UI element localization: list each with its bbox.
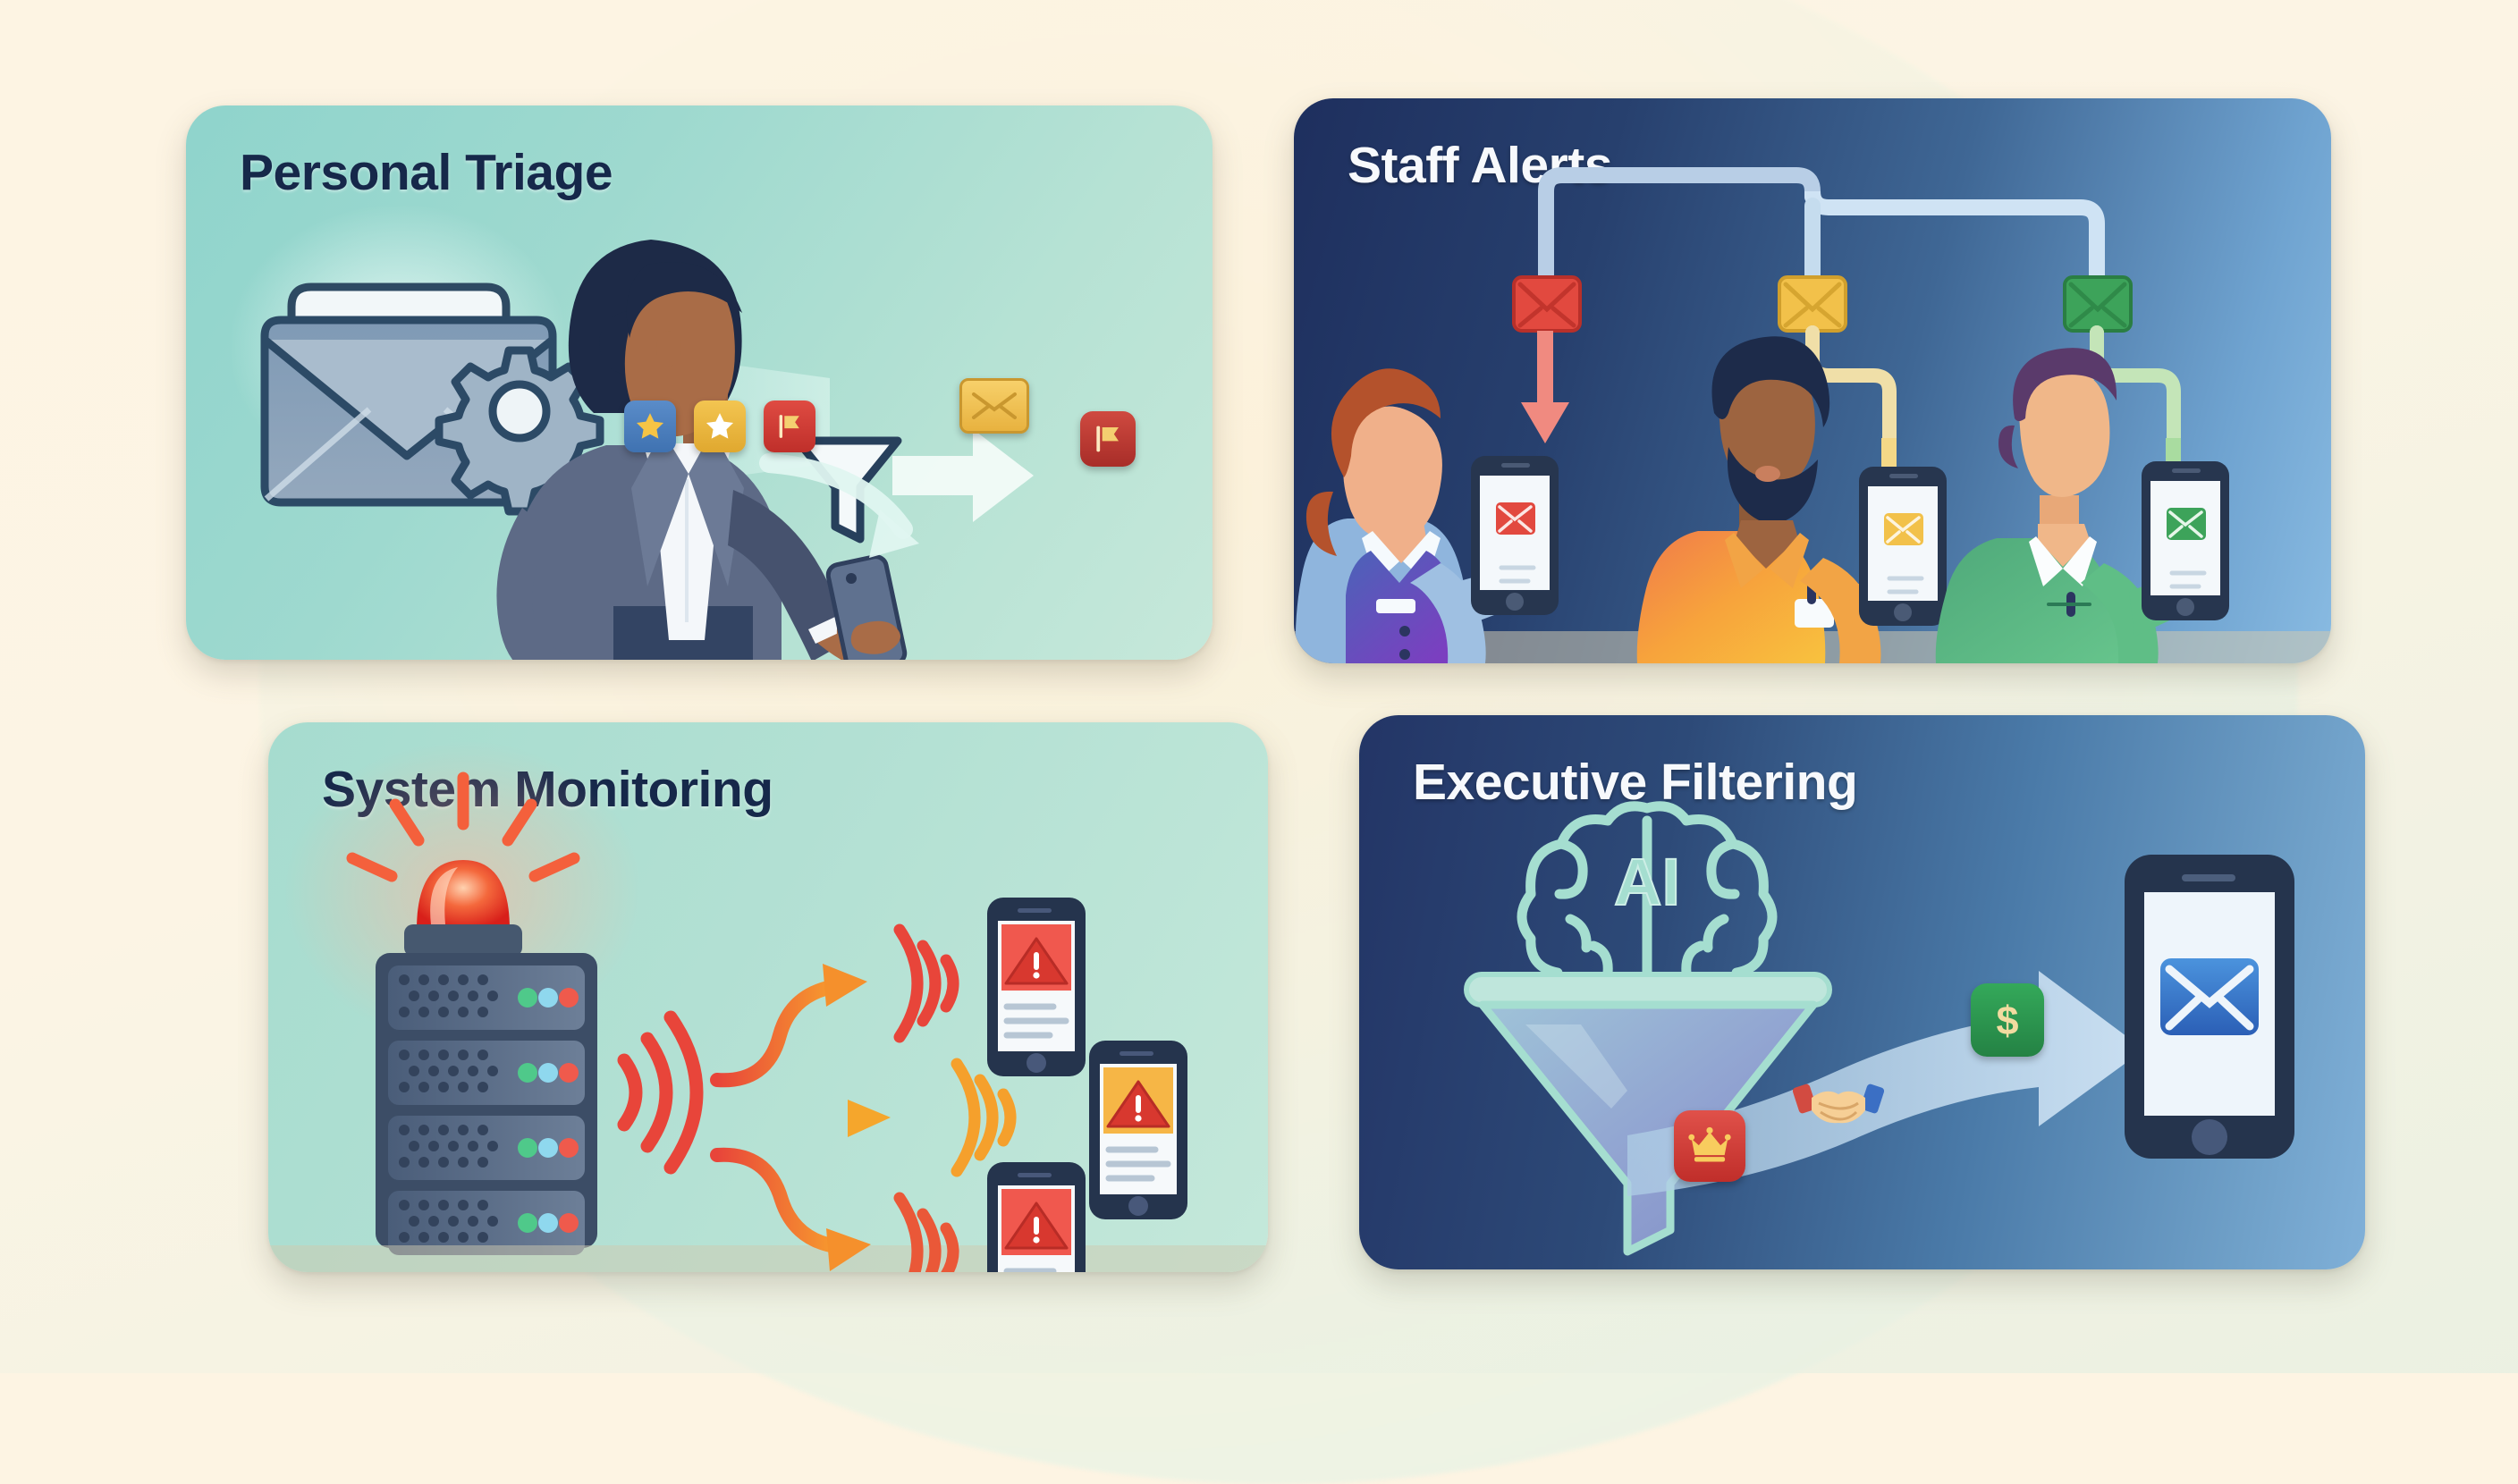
panel-system-monitoring[interactable]: System Monitoring (268, 722, 1268, 1272)
panel-executive-filtering[interactable]: Executive Filtering (1359, 715, 2365, 1269)
envelope-yellow (1779, 277, 1846, 331)
panel4-art: AI (1359, 715, 2365, 1269)
envelope-badge-yellow[interactable] (959, 378, 1029, 434)
panel-staff-alerts[interactable]: Staff Alerts (1294, 98, 2331, 663)
signal-wave-source (624, 1017, 697, 1168)
alert-phone-receptionist (1471, 456, 1559, 615)
panel-personal-triage[interactable]: Personal Triage (186, 105, 1213, 660)
right-arrow-icon (892, 429, 1034, 522)
panel3-art (268, 722, 1268, 1272)
arrow-straight (717, 1100, 891, 1137)
crown-icon (1686, 1122, 1734, 1170)
alert-phone-bearded-man (1859, 467, 1947, 626)
ai-label: AI (1614, 845, 1680, 919)
envelope-icon (2160, 958, 2259, 1035)
panel2-art (1294, 98, 2331, 663)
svg-text:$: $ (1996, 998, 2018, 1043)
flag-badge-red-floating[interactable] (1080, 411, 1136, 467)
handshake-icon (1794, 1071, 1883, 1134)
illustration-canvas: Personal Triage (0, 0, 2518, 1373)
routing-tree (1546, 111, 2097, 277)
name-badge (1376, 599, 1415, 613)
signal-wave-top (900, 930, 953, 1037)
arrow-up-curve (717, 964, 867, 1080)
alert-phone-top (987, 898, 1086, 1076)
flag-icon (773, 410, 806, 443)
star-badge-yellow[interactable] (694, 401, 746, 452)
alert-phone-bottom (987, 1162, 1086, 1272)
flag-badge-red[interactable] (764, 401, 815, 452)
star-icon (633, 409, 667, 443)
dollar-icon: $ (1983, 996, 2032, 1044)
flag-icon (1090, 421, 1126, 457)
alert-phone-nurse (2142, 461, 2229, 620)
star-icon (703, 409, 737, 443)
handshake-badge[interactable] (1794, 1071, 1883, 1134)
server-rack-icon (376, 953, 597, 1255)
drop-arrow-red (1521, 331, 1569, 443)
envelope-red (1514, 277, 1580, 331)
star-badge-blue[interactable] (624, 401, 676, 452)
signal-wave-middle (957, 1064, 1010, 1171)
envelope-icon (971, 390, 1018, 422)
envelope-green (2065, 277, 2131, 331)
dollar-badge[interactable]: $ (1971, 983, 2044, 1057)
destination-phone (2125, 855, 2294, 1159)
panel1-art (186, 105, 1213, 660)
crown-badge[interactable] (1674, 1110, 1745, 1182)
alert-phone-middle (1089, 1041, 1187, 1219)
